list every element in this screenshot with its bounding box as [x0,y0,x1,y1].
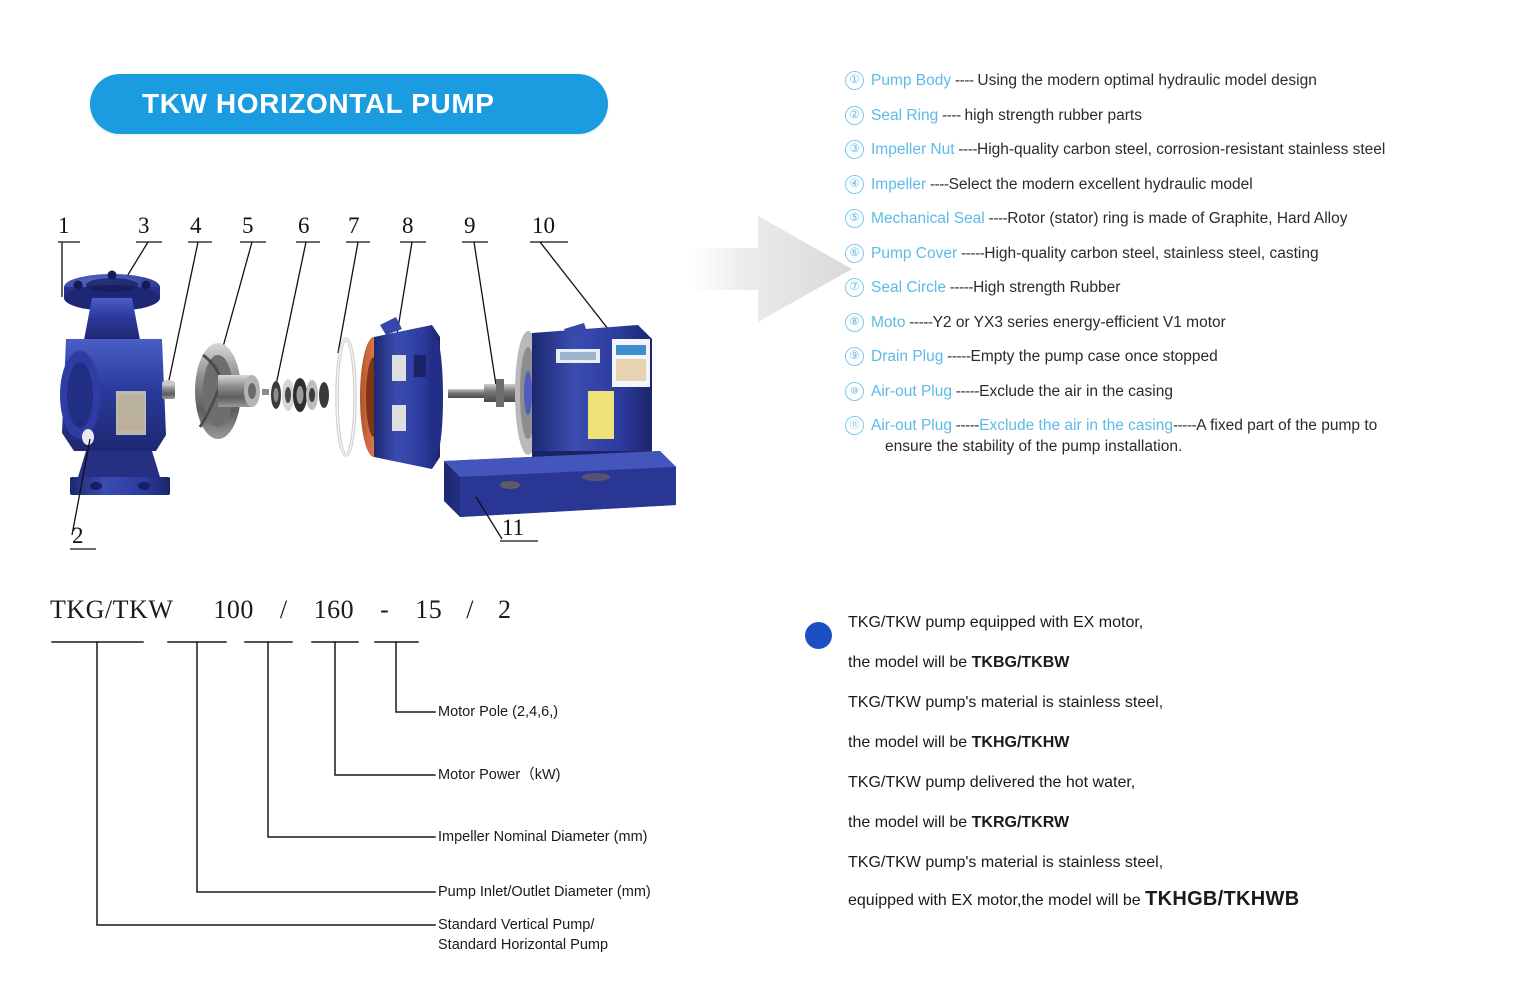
legend-part-name-8: Moto [871,314,905,331]
legend-part-name-11: Air-out Plug [871,417,952,434]
legend-item-2: ② Seal Ring ---- high strength rubber pa… [845,105,1505,126]
legend-part-name-2: Seal Ring [871,107,938,124]
note-line-4: the model will be TKHG/TKHW [848,732,1420,754]
legend-part-name-5: Mechanical Seal [871,210,985,227]
legend-item-4: ④ Impeller ----Select the modern excelle… [845,174,1505,195]
legend-item-5: ⑤ Mechanical Seal ----Rotor (stator) rin… [845,208,1505,229]
legend-item-8: ⑧ Moto -----Y2 or YX3 series energy-effi… [845,312,1505,333]
legend-item-7: ⑦ Seal Circle -----High strength Rubber [845,277,1505,298]
legend-item-11: ⑪ Air-out Plug -----Exclude the air in t… [845,415,1505,457]
legend-dash-9: ----- [943,348,970,365]
legend-dash-2: ---- [938,107,964,124]
part-mechanical-seal [262,378,329,412]
note-line-2: the model will be TKBG/TKBW [848,652,1420,674]
legend-dash-3: ---- [955,141,977,158]
note-text-8: equipped with EX motor,the model will be [848,892,1145,909]
legend-desc-6: High-quality carbon steel, stainless ste… [984,245,1318,262]
legend-item-10: ⑩ Air-out Plug -----Exclude the air in t… [845,381,1505,402]
legend-dash-1: ---- [951,72,977,89]
part-impeller-nut [162,380,175,399]
legend-dash-8: ----- [905,314,932,331]
legend-number-icon-4: ④ [845,175,864,194]
model-label-standard-pump-line2: Standard Horizontal Pump [438,936,608,955]
legend-desc-8: Y2 or YX3 series energy-efficient V1 mot… [933,314,1226,331]
model-code-breakdown: TKG/TKW 100 / 160 - 15 / 2 [40,595,740,970]
note-model-4: TKHG/TKHW [972,734,1070,751]
legend-item-9: ⑨ Drain Plug -----Empty the pump case on… [845,346,1505,367]
legend-number-icon-7: ⑦ [845,278,864,297]
legend-desc-1: Using the modern optimal hydraulic model… [977,72,1316,89]
legend-dash-7: ----- [946,279,973,296]
callout-number-5: 5 [242,213,254,238]
legend-number-icon-5: ⑤ [845,209,864,228]
legend-dash2-11: ----- [1173,417,1196,434]
callout-number-10: 10 [532,213,555,238]
model-leader-lines [40,595,740,970]
part-base-plate [444,451,676,517]
legend-desc-blue-11: Exclude the air in the casing [979,417,1173,434]
note-line-5: TKG/TKW pump delivered the hot water, [848,772,1420,794]
legend-dash-4: ---- [926,176,948,193]
legend-desc-3: High-quality carbon steel, corrosion-res… [977,141,1385,158]
legend-number-icon-2: ② [845,106,864,125]
legend-dash-11: ----- [952,417,979,434]
legend-desc-7: High strength Rubber [973,279,1120,296]
model-label-impeller-diameter: Impeller Nominal Diameter (mm) [438,828,647,847]
legend-part-name-7: Seal Circle [871,279,946,296]
legend-number-icon-3: ③ [845,140,864,159]
product-spec-page: TKW HORIZONTAL PUMP [0,0,1513,1000]
legend-desc-11: A fixed part of the pump to [1196,417,1377,434]
callout-number-1: 1 [58,213,70,238]
note-text-4: the model will be [848,734,972,751]
legend-desc-4: Select the modern excellent hydraulic mo… [949,176,1253,193]
note-line-1: TKG/TKW pump equipped with EX motor, [848,612,1420,634]
callout-number-6: 6 [298,213,310,238]
note-line-3: TKG/TKW pump's material is stainless ste… [848,692,1420,714]
legend-number-icon-9: ⑨ [845,347,864,366]
note-text-5: TKG/TKW pump delivered the hot water, [848,774,1135,791]
part-impeller [195,343,260,439]
legend-part-name-1: Pump Body [871,72,951,89]
legend-part-name-3: Impeller Nut [871,141,955,158]
page-title: TKW HORIZONTAL PUMP [90,88,495,120]
legend-desc-10: Exclude the air in the casing [979,383,1173,400]
note-line-6: the model will be TKRG/TKRW [848,812,1420,834]
legend-item-1: ① Pump Body ---- Using the modern optima… [845,70,1505,91]
exploded-pump-diagram: 1 3 4 5 6 7 8 9 10 [40,205,680,575]
note-text-7: TKG/TKW pump's material is stainless ste… [848,854,1163,871]
callout-number-8: 8 [402,213,414,238]
note-text-6: the model will be [848,814,972,831]
legend-number-icon-8: ⑧ [845,313,864,332]
legend-part-name-4: Impeller [871,176,926,193]
legend-number-icon-6: ⑥ [845,244,864,263]
legend-desc-9: Empty the pump case once stopped [971,348,1218,365]
legend-item-6: ⑥ Pump Cover -----High-quality carbon st… [845,243,1505,264]
flow-arrow-icon [690,212,855,327]
part-motor-shaft [448,379,518,407]
model-label-inlet-diameter: Pump Inlet/Outlet Diameter (mm) [438,883,651,902]
legend-part-name-9: Drain Plug [871,348,943,365]
note-model-8: TKHGB/TKHWB [1145,888,1299,910]
callout-number-11: 11 [502,515,524,540]
callout-number-3: 3 [138,213,150,238]
model-naming-notes: TKG/TKW pump equipped with EX motor, the… [800,612,1420,930]
legend-desc-cont-11: ensure the stability of the pump install… [871,436,1505,457]
legend-part-name-6: Pump Cover [871,245,957,262]
legend-desc-5: Rotor (stator) ring is made of Graphite,… [1007,210,1347,227]
note-line-7: TKG/TKW pump's material is stainless ste… [848,852,1420,874]
part-pump-cover [360,317,443,469]
legend-dash-6: ----- [957,245,984,262]
callout-number-4: 4 [190,213,202,238]
model-label-motor-power: Motor Power（kW) [438,766,560,785]
part-seal-circle [337,339,355,455]
parts-legend-list: ① Pump Body ---- Using the modern optima… [845,70,1505,471]
model-label-motor-pole: Motor Pole (2,4,6,) [438,703,558,722]
page-title-banner: TKW HORIZONTAL PUMP [90,74,608,134]
bullet-point-icon [805,622,832,649]
note-text-1: TKG/TKW pump equipped with EX motor, [848,614,1143,631]
note-text-3: TKG/TKW pump's material is stainless ste… [848,694,1163,711]
legend-number-icon-1: ① [845,71,864,90]
note-text-2: the model will be [848,654,972,671]
note-model-2: TKBG/TKBW [972,654,1070,671]
legend-desc-2: high strength rubber parts [964,107,1142,124]
legend-number-icon-10: ⑩ [845,382,864,401]
model-label-standard-pump-line1: Standard Vertical Pump/ [438,916,594,935]
legend-item-3: ③ Impeller Nut ----High-quality carbon s… [845,139,1505,160]
note-line-8: equipped with EX motor,the model will be… [848,888,1420,912]
note-model-6: TKRG/TKRW [972,814,1069,831]
legend-dash-5: ---- [985,210,1007,227]
legend-number-icon-11: ⑪ [845,416,864,435]
callout-number-9: 9 [464,213,476,238]
part-motor [515,323,652,467]
legend-part-name-10: Air-out Plug [871,383,952,400]
callout-number-7: 7 [348,213,360,238]
legend-dash-10: ----- [952,383,979,400]
